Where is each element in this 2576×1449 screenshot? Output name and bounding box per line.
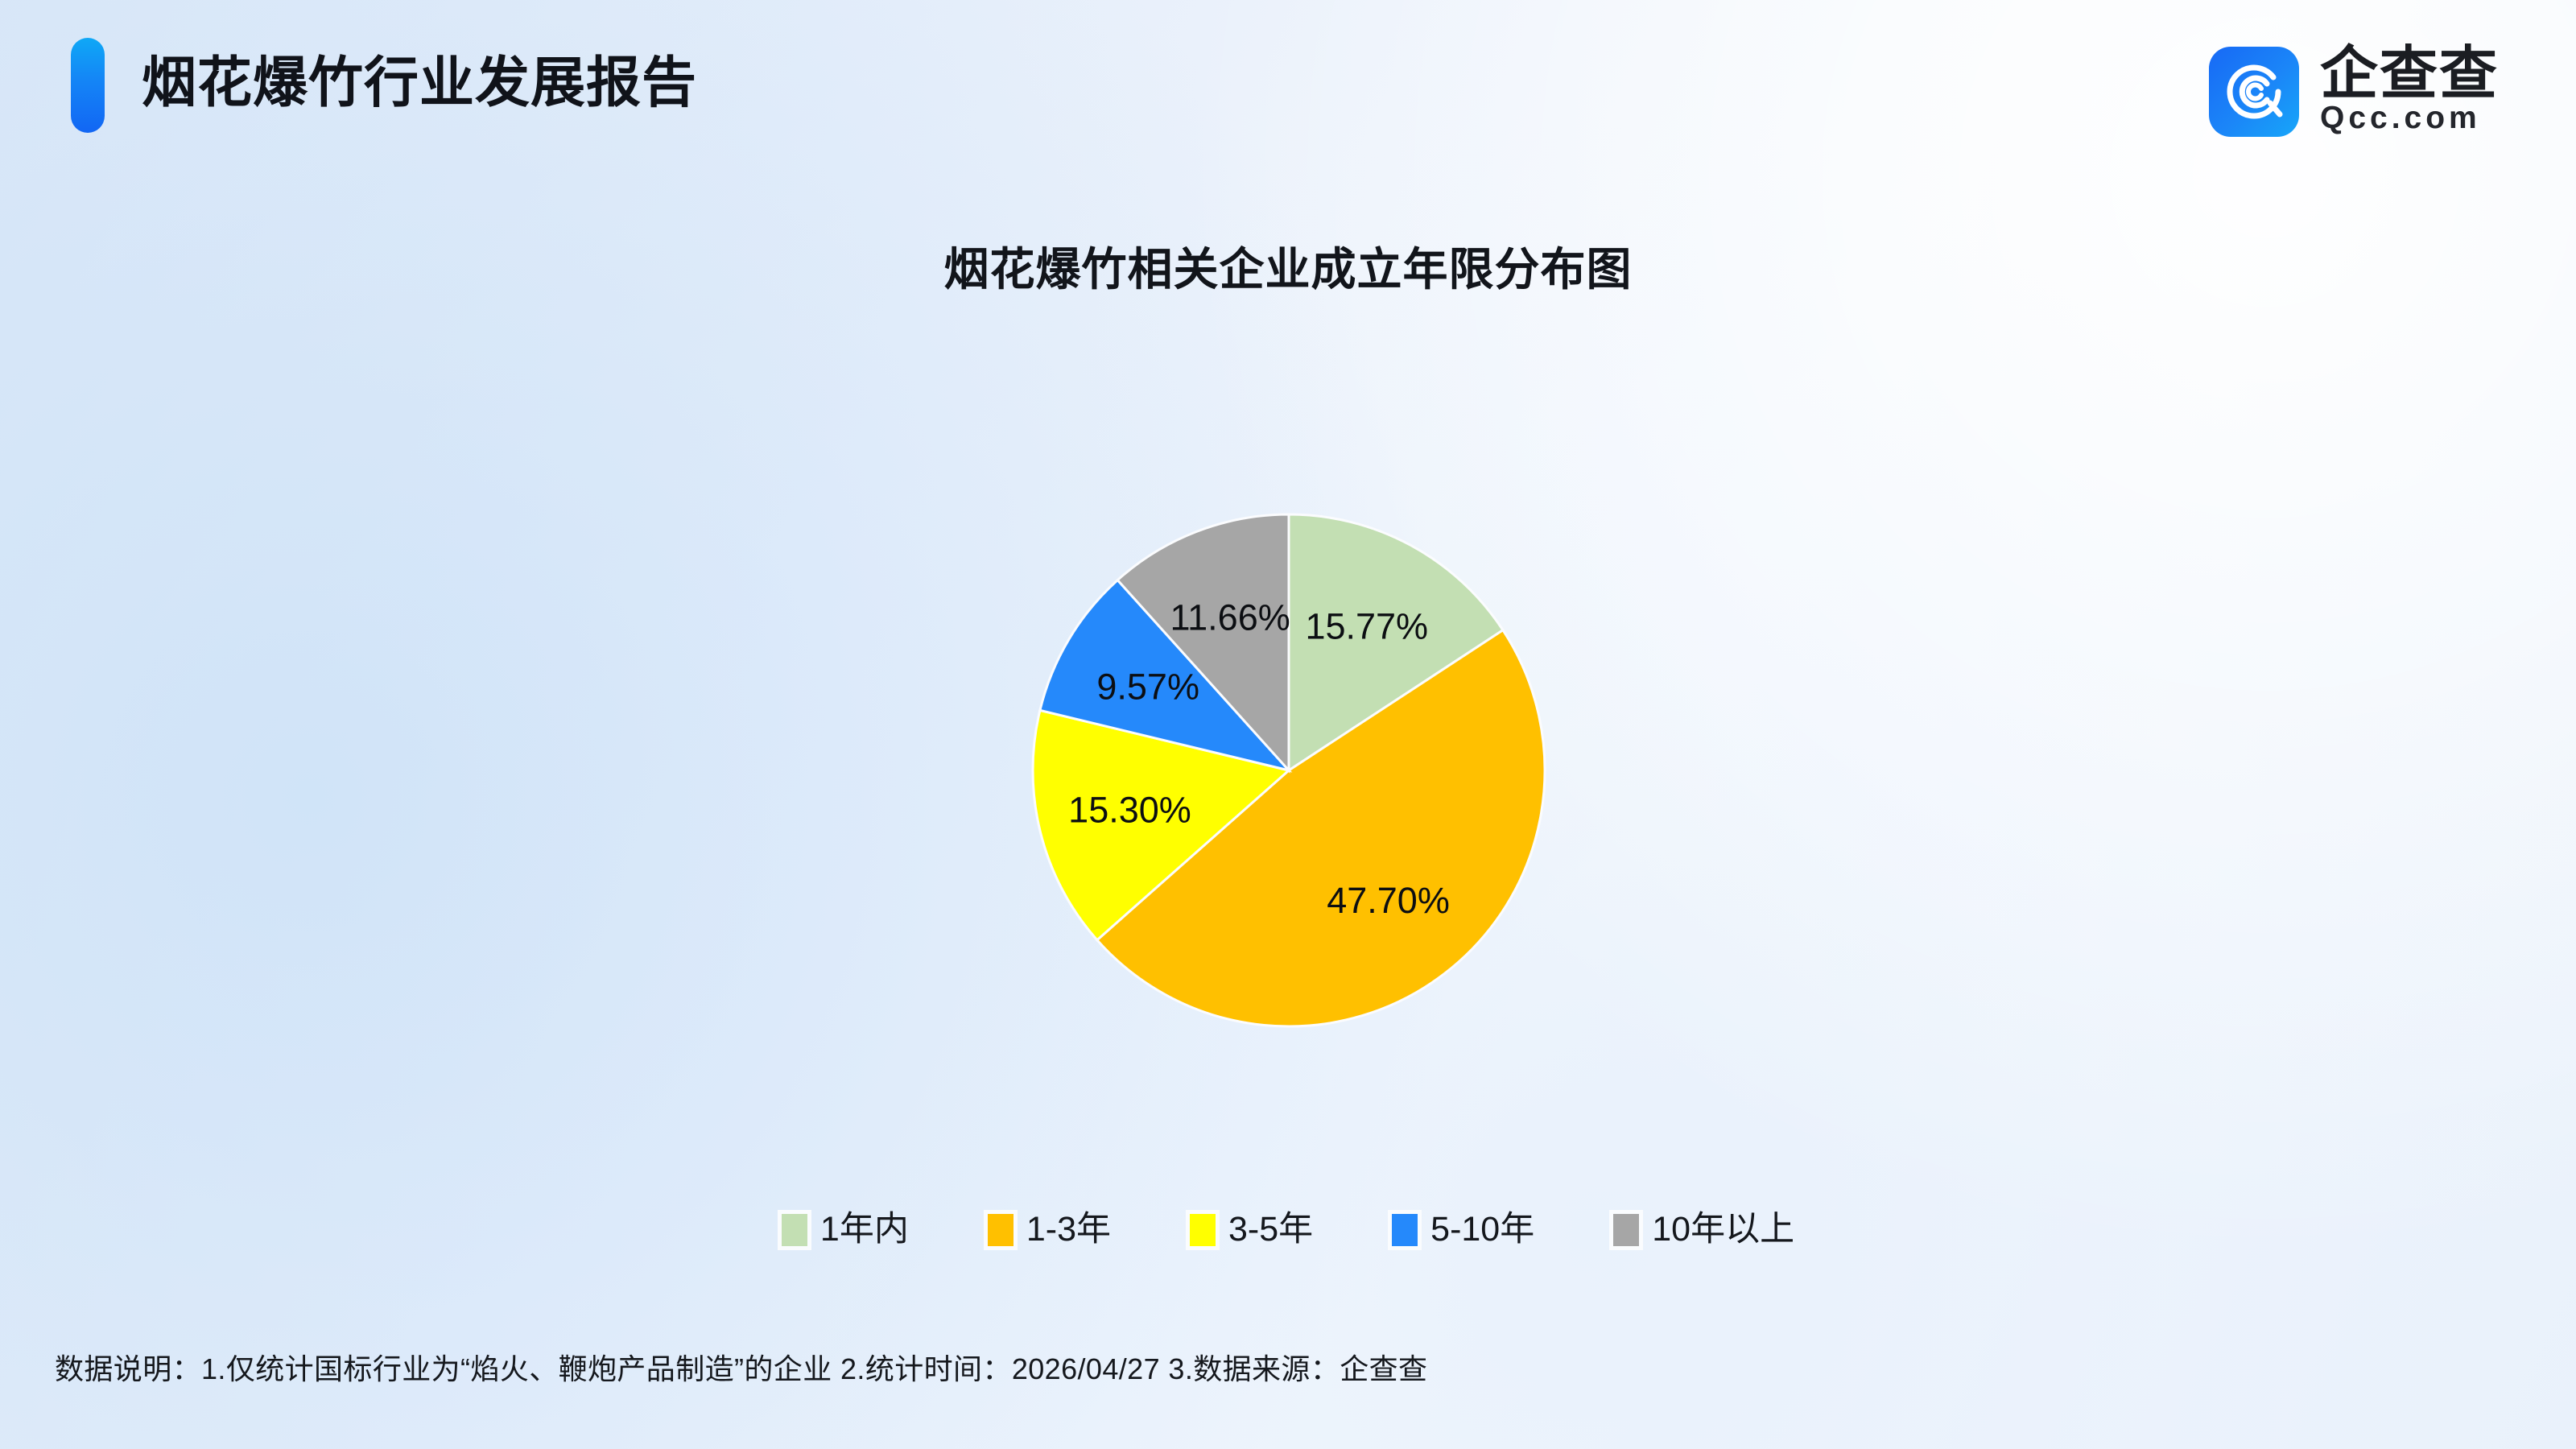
brand-name-cn: 企查查	[2320, 47, 2499, 101]
brand-logo: 企查查 Qcc.com	[2209, 47, 2499, 137]
report-page: 烟花爆竹行业发展报告 企查查 Qcc.com 烟花爆竹相关企业成立年限分布图 1…	[0, 0, 2576, 1449]
legend-swatch	[1190, 1214, 1216, 1246]
legend-item[interactable]: 3-5年	[1190, 1212, 1313, 1247]
pie-slice-label: 9.57%	[1096, 666, 1199, 707]
legend-item[interactable]: 5-10年	[1392, 1212, 1534, 1247]
legend-swatch	[1392, 1214, 1418, 1246]
legend-swatch	[1613, 1214, 1639, 1246]
legend-label: 1年内	[820, 1212, 909, 1247]
legend-label: 5-10年	[1430, 1212, 1534, 1247]
brand-text: 企查查 Qcc.com	[2320, 47, 2499, 136]
brand-name-en: Qcc.com	[2320, 101, 2499, 136]
pie-slice-label: 15.30%	[1068, 790, 1191, 831]
page-title: 烟花爆竹行业发展报告	[142, 35, 697, 130]
title-accent-bar	[71, 38, 105, 133]
legend-label: 3-5年	[1228, 1212, 1313, 1247]
pie-slice-label: 15.77%	[1305, 605, 1428, 646]
pie-slice-label: 47.70%	[1327, 880, 1450, 921]
legend-swatch	[782, 1214, 807, 1246]
legend-item[interactable]: 1年内	[782, 1212, 909, 1247]
legend-item[interactable]: 1-3年	[988, 1212, 1111, 1247]
pie-chart: 15.77%47.70%15.30%9.57%11.66%	[1031, 513, 1546, 1028]
pie-slice-label: 11.66%	[1170, 597, 1290, 638]
legend-swatch	[988, 1214, 1013, 1246]
qcc-logo-icon	[2209, 47, 2299, 137]
legend-label: 10年以上	[1652, 1212, 1794, 1247]
chart-title: 烟花爆竹相关企业成立年限分布图	[0, 233, 2576, 299]
chart-legend: 1年内1-3年3-5年5-10年10年以上	[0, 1212, 2576, 1247]
legend-item[interactable]: 10年以上	[1613, 1212, 1794, 1247]
footnote: 数据说明：1.仅统计国标行业为“焰火、鞭炮产品制造”的企业 2.统计时间：202…	[55, 1346, 1427, 1388]
legend-label: 1-3年	[1026, 1212, 1111, 1247]
